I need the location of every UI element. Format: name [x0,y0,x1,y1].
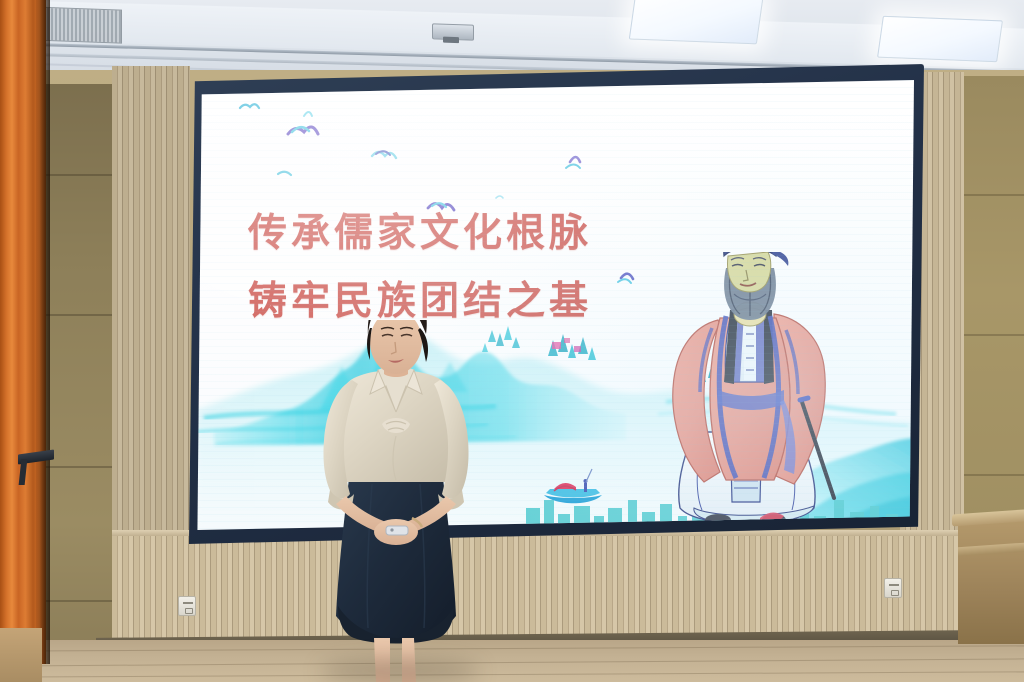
slide-title-line-1: 传承儒家文化根脉 [248,212,592,255]
pavilion-accent-1 [552,342,561,349]
wall-panel-left [44,84,112,670]
confucius-illustration [634,252,864,530]
room-scene: 传承儒家文化根脉 铸牢民族团结之基 [0,0,1024,682]
bird-1 [240,104,259,108]
floor [0,640,1024,682]
presentation-clicker [386,526,408,535]
presenter [300,320,490,682]
wall-outlet-left[interactable] [178,596,196,616]
curtain-shadow [36,0,50,664]
ceiling-light-panel-2 [877,16,1003,62]
presenter-skirt [336,470,456,640]
ceiling-light-panel-1 [629,0,763,44]
projector-mount [432,23,474,40]
bird-5 [372,152,396,158]
podium [958,516,1024,644]
pavilion-accent-2 [574,346,581,352]
bird-8 [496,196,503,198]
bird-9 [621,274,633,279]
boatman [584,483,587,492]
wall-outlet-right[interactable] [884,578,902,598]
bird-6 [570,157,580,162]
led-display[interactable]: 传承儒家文化根脉 铸牢民族团结之基 [186,64,924,544]
curtain-foot [0,628,42,682]
bird-4 [278,172,291,175]
slide-title: 传承儒家文化根脉 铸牢民族团结之基 [248,200,592,336]
presenter-shadow [320,660,480,682]
wainscot-slats [112,536,964,642]
